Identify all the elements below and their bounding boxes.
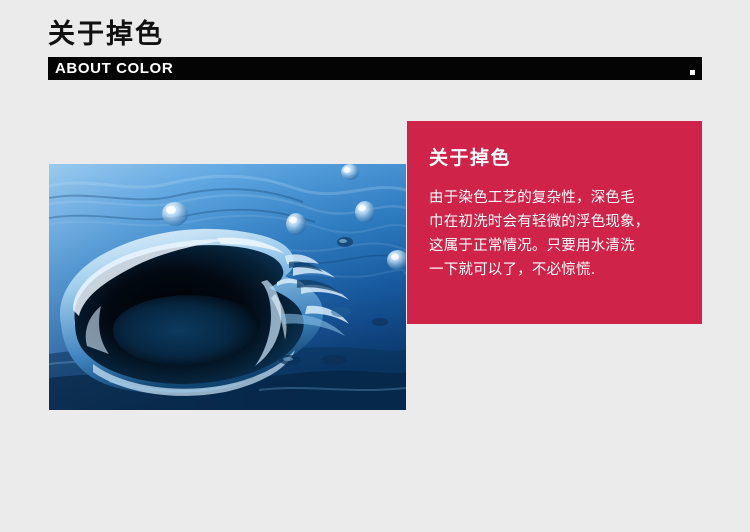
product-detail-page: 关于掉色 ABOUT COLOR: [0, 0, 750, 532]
notice-heading: 关于掉色: [429, 146, 680, 170]
notice-body-line: 巾在初洗时会有轻微的浮色现象，: [429, 210, 680, 234]
color-fading-notice-panel: 关于掉色 由于染色工艺的复杂性，深色毛 巾在初洗时会有轻微的浮色现象， 这属于正…: [407, 121, 702, 324]
notice-body-line: 由于染色工艺的复杂性，深色毛: [429, 186, 680, 210]
water-splash-illustration: [49, 164, 406, 410]
water-splash-image: [49, 164, 406, 410]
content-area: 关于掉色 由于染色工艺的复杂性，深色毛 巾在初洗时会有轻微的浮色现象， 这属于正…: [0, 0, 750, 532]
notice-body-line: 一下就可以了，不必惊慌.: [429, 258, 680, 282]
notice-body-line: 这属于正常情况。只要用水清洗: [429, 234, 680, 258]
notice-body: 由于染色工艺的复杂性，深色毛 巾在初洗时会有轻微的浮色现象， 这属于正常情况。只…: [429, 186, 680, 282]
